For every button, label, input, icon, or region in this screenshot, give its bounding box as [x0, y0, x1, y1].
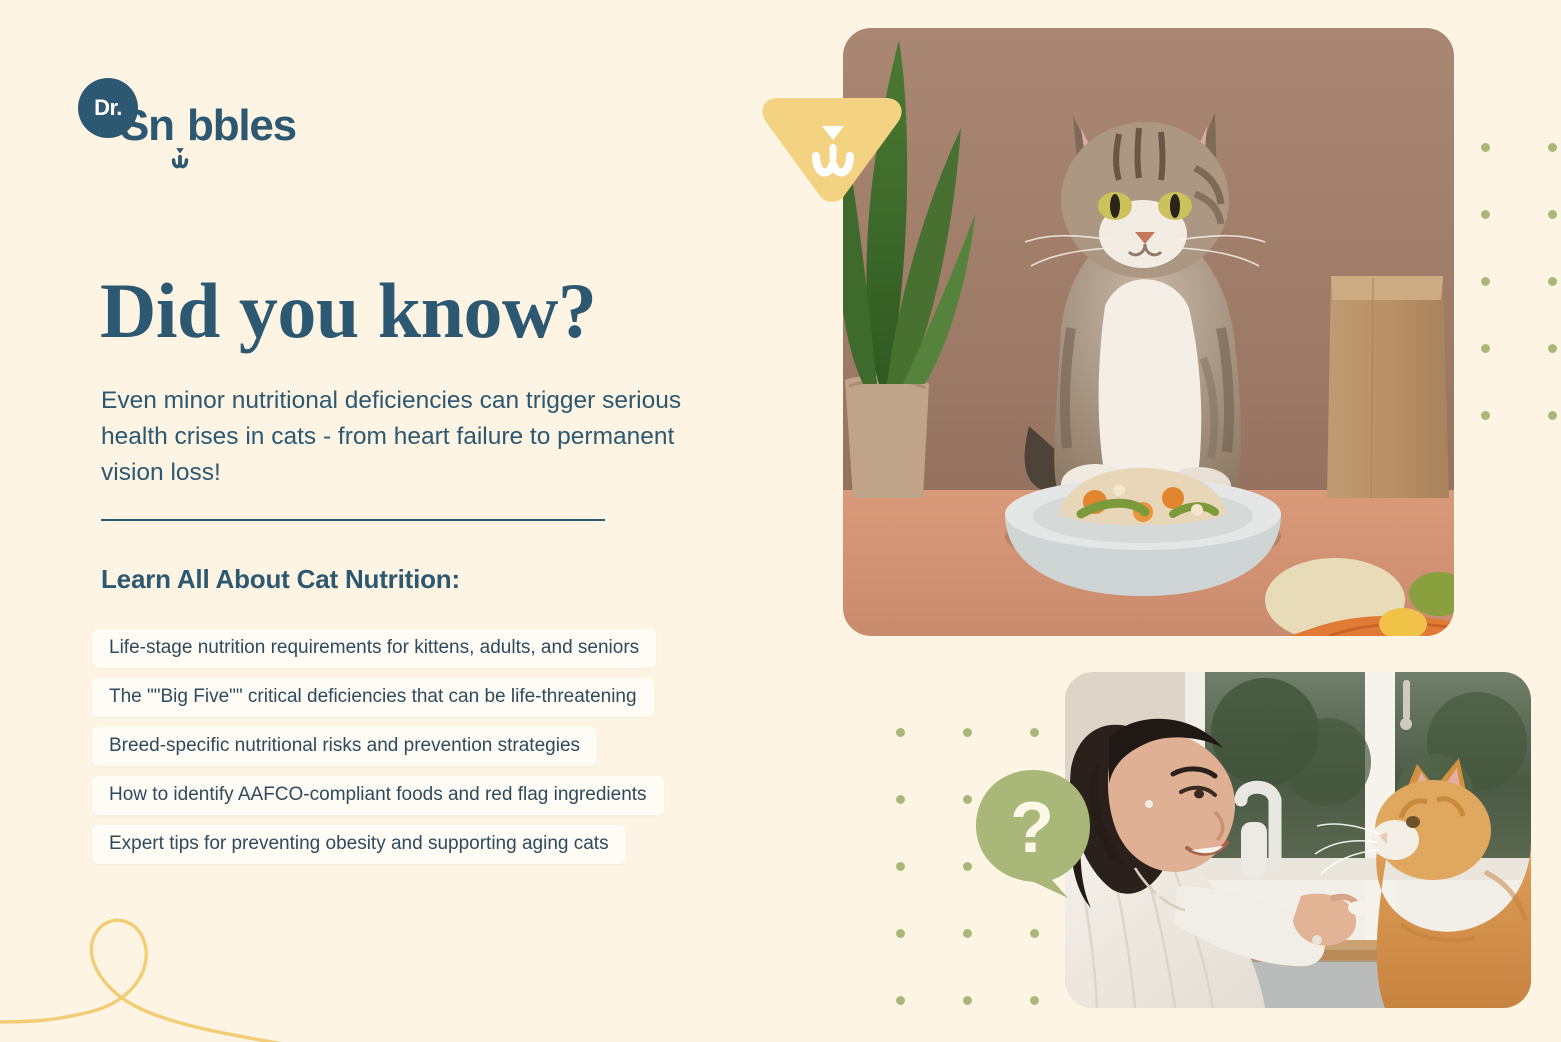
dot: [1548, 277, 1557, 286]
dot: [896, 862, 905, 871]
dot: [1030, 996, 1039, 1005]
list-item[interactable]: How to identify AAFCO-compliant foods an…: [92, 776, 664, 815]
dot: [963, 929, 972, 938]
dot: [1481, 143, 1490, 152]
dot: [896, 728, 905, 737]
dot: [1030, 728, 1039, 737]
brand-logo[interactable]: Dr. Sn bbles: [78, 78, 378, 162]
list-item[interactable]: The ""Big Five"" critical deficiencies t…: [92, 678, 654, 717]
dot: [1481, 344, 1490, 353]
section-divider: [101, 519, 605, 521]
tabby-cat-with-food-bowl-photo: [843, 28, 1454, 636]
poster-canvas: Dr. Sn bbles Did you know? Even minor nu…: [0, 0, 1561, 1042]
dot-grid-right: [1481, 143, 1557, 420]
question-bubble-icon: ?: [972, 768, 1094, 900]
list-item[interactable]: Breed-specific nutritional risks and pre…: [92, 727, 597, 766]
dot: [1548, 210, 1557, 219]
woman-feeding-orange-cat-photo: [1065, 672, 1531, 1008]
dot: [963, 728, 972, 737]
swirl-decoration-icon: [0, 852, 520, 1042]
logo-word-prefix: Sn: [120, 101, 174, 150]
logo-word-suffix: bbles: [187, 101, 296, 150]
dot: [963, 795, 972, 804]
question-mark-glyph: ?: [1010, 788, 1054, 868]
benefit-list: Life-stage nutrition requirements for ki…: [92, 629, 664, 864]
dot: [896, 996, 905, 1005]
section-subheading: Learn All About Cat Nutrition:: [101, 564, 460, 595]
dot: [1481, 210, 1490, 219]
list-item[interactable]: Life-stage nutrition requirements for ki…: [92, 629, 656, 668]
cat-nose-whiskers-icon: [758, 96, 906, 206]
dot: [963, 996, 972, 1005]
page-title: Did you know?: [100, 272, 596, 350]
logo-dr-text: Dr.: [94, 97, 122, 119]
logo-wordmark: Sn bbles: [120, 104, 296, 148]
dot: [963, 862, 972, 871]
list-item[interactable]: Expert tips for preventing obesity and s…: [92, 825, 626, 864]
dot: [1030, 929, 1039, 938]
dot: [1481, 277, 1490, 286]
hero-description: Even minor nutritional deficiencies can …: [101, 383, 726, 491]
dot: [1548, 344, 1557, 353]
dot: [1481, 411, 1490, 420]
dot: [1548, 411, 1557, 420]
dot: [1548, 143, 1557, 152]
dot: [896, 929, 905, 938]
dot: [896, 795, 905, 804]
